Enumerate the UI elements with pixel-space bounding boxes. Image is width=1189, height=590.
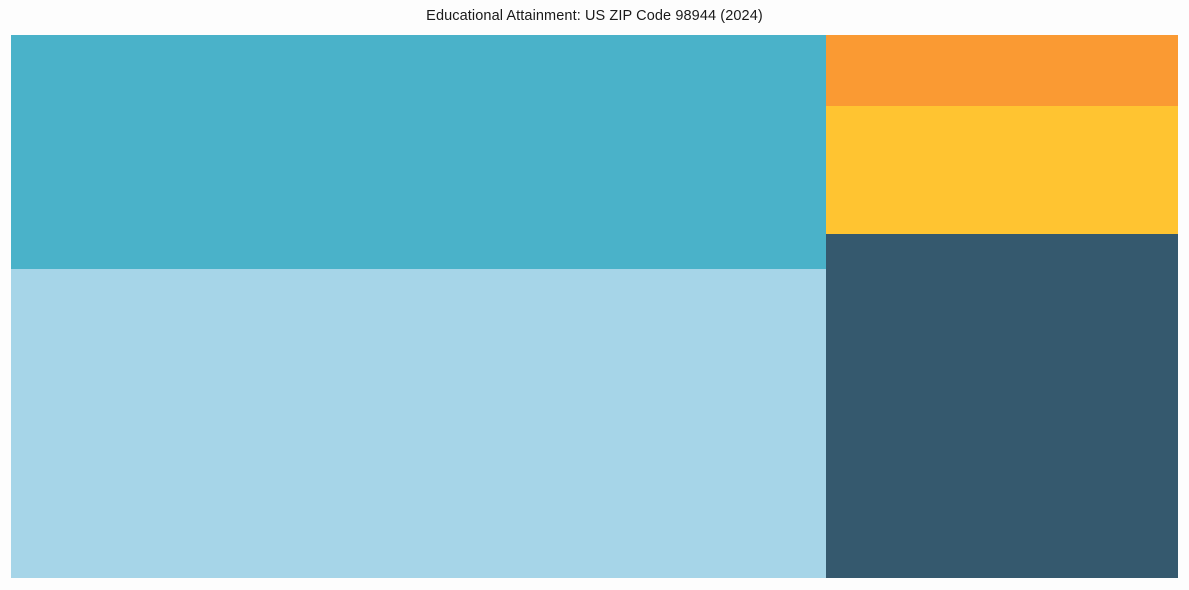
chart-title: Educational Attainment: US ZIP Code 9894… — [0, 8, 1189, 25]
treemap-column-right — [826, 35, 1178, 578]
treemap-tile-dark-slate[interactable] — [826, 234, 1178, 578]
treemap-tile-orange[interactable] — [826, 35, 1178, 106]
treemap-tile-light-blue[interactable] — [11, 269, 826, 578]
treemap-tile-yellow[interactable] — [826, 106, 1178, 234]
treemap-tile-teal[interactable] — [11, 35, 826, 269]
treemap-figure: Educational Attainment: US ZIP Code 9894… — [0, 0, 1189, 590]
treemap-plot-area — [11, 35, 1178, 578]
treemap-column-left — [11, 35, 826, 578]
